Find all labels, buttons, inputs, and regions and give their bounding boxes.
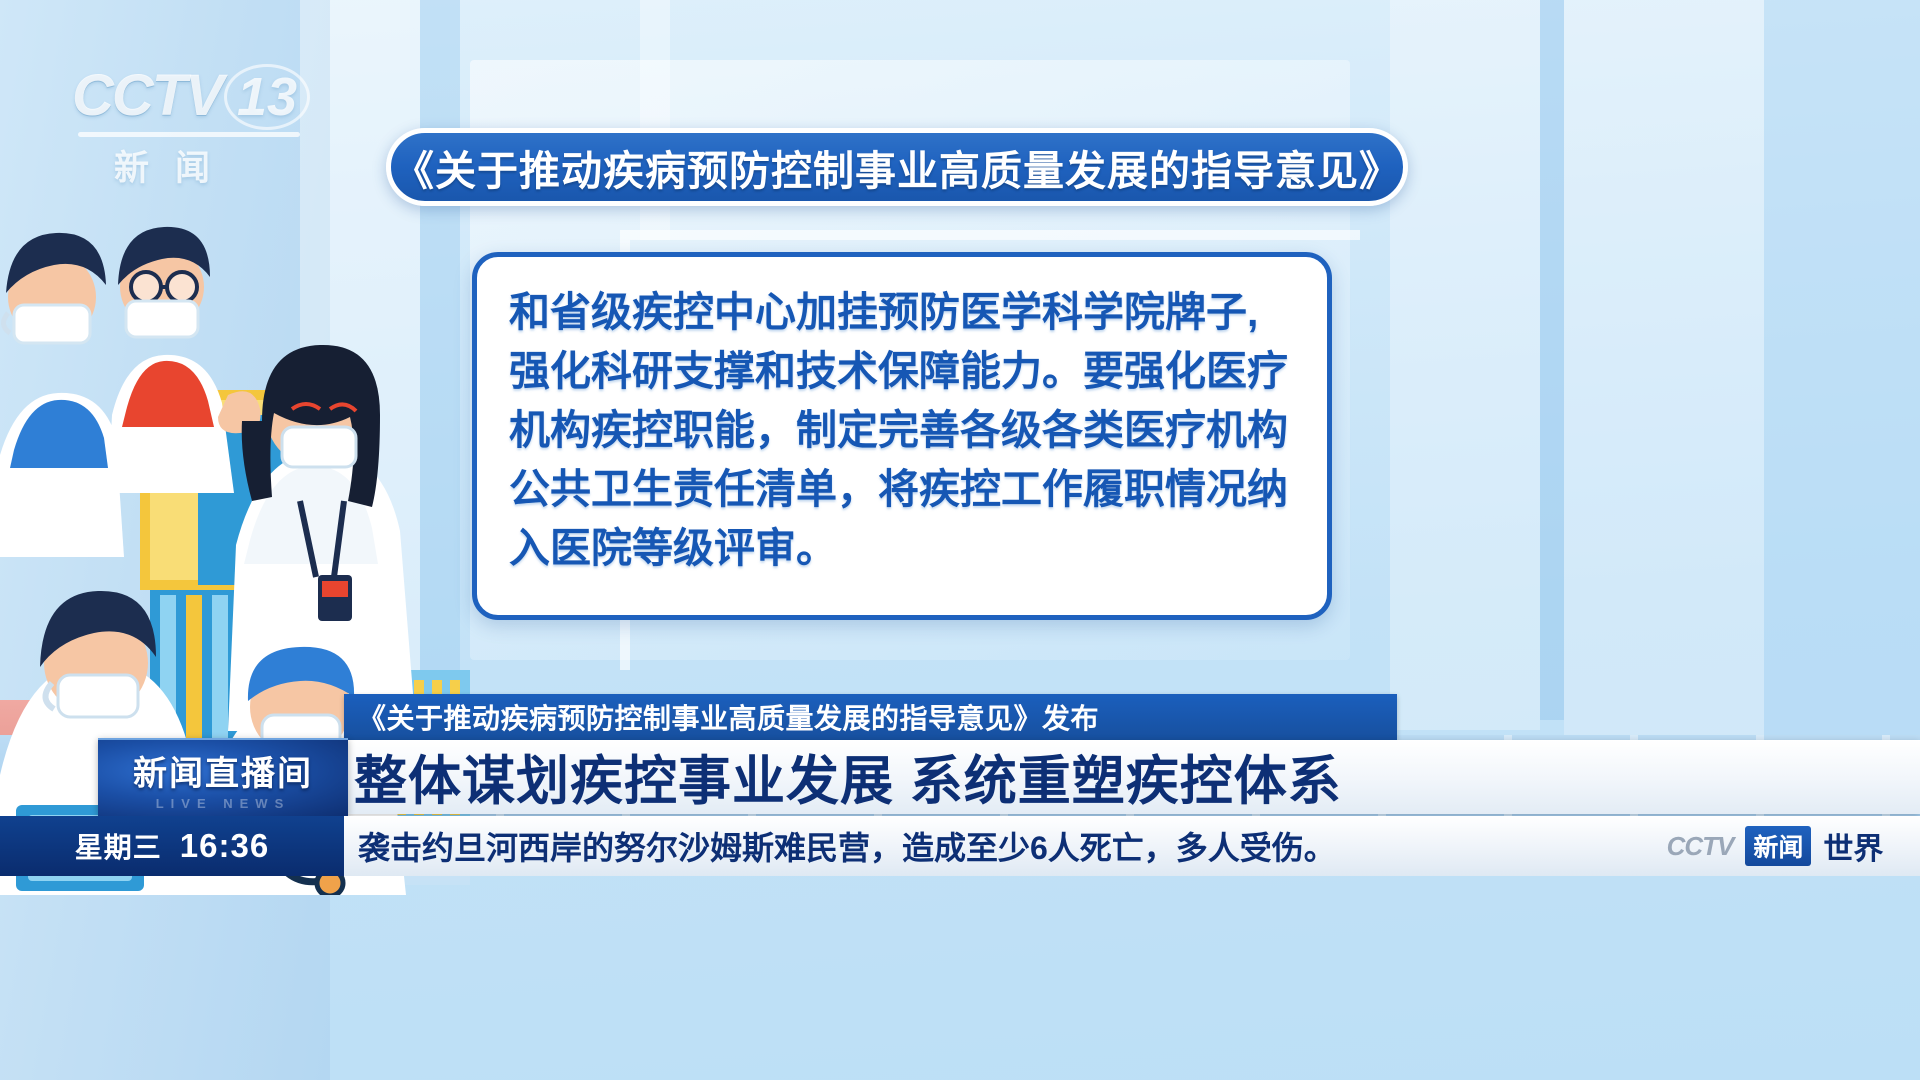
ticker-scroll-area: 袭击约旦河西岸的努尔沙姆斯难民营，造成至少6人死亡，多人受伤。 bbox=[344, 816, 1630, 876]
graphic-body-card: 和省级疾控中心加挂预防医学科学院牌子, 强化科研支撑和技术保障能力。要强化医疗 … bbox=[472, 252, 1332, 620]
ticker-weekday: 星期三 bbox=[75, 826, 162, 866]
lower-third-subtitle-bar: 《关于推动疾病预防控制事业高质量发展的指导意见》发布 bbox=[344, 694, 1397, 740]
background-panel bbox=[1564, 0, 1764, 740]
graphic-body-line: 公共卫生责任清单，将疾控工作履职情况纳 bbox=[509, 460, 1295, 519]
ticker-branding: CCTV 新闻 世界 bbox=[1630, 816, 1920, 876]
ticker-headline-text: 袭击约旦河西岸的努尔沙姆斯难民营，造成至少6人死亡，多人受伤。 bbox=[358, 823, 1336, 869]
program-latin-name: LIVE NEWS bbox=[156, 796, 291, 811]
broadcast-screen: CCTV 13 新闻 《关于推动疾病预防控制事业高质量发展的指导意见》 和省级疾… bbox=[0, 0, 1920, 1080]
graphic-body-line: 机构疾控职能，制定完善各级各类医疗机构 bbox=[509, 401, 1295, 460]
ticker-news-label: 新闻 bbox=[1745, 826, 1811, 866]
ticker-cctv-label: CCTV bbox=[1667, 831, 1734, 862]
lower-third-headline-bar: 整体谋划疾控事业发展 系统重塑疾控体系 bbox=[344, 740, 1920, 814]
lower-third-subtitle-text: 《关于推动疾病预防控制事业高质量发展的指导意见》发布 bbox=[358, 697, 1099, 737]
channel-logo-divider bbox=[78, 132, 300, 137]
news-ticker: 星期三 16:36 袭击约旦河西岸的努尔沙姆斯难民营，造成至少6人死亡，多人受伤… bbox=[0, 816, 1920, 876]
background-panel bbox=[1540, 0, 1564, 720]
graphic-title-text: 《关于推动疾病预防控制事业高质量发展的指导意见》 bbox=[393, 137, 1401, 197]
ticker-time: 16:36 bbox=[180, 827, 269, 865]
lower-third-headline-text: 整体谋划疾控事业发展 系统重塑疾控体系 bbox=[354, 739, 1342, 815]
channel-logo-cn-text: 新闻 bbox=[114, 140, 304, 191]
graphic-body-line: 和省级疾控中心加挂预防医学科学院牌子, bbox=[509, 283, 1295, 342]
graphic-title-banner: 《关于推动疾病预防控制事业高质量发展的指导意见》 bbox=[386, 128, 1408, 206]
ticker-clock: 星期三 16:36 bbox=[0, 816, 344, 876]
channel-logo: CCTV 13 新闻 bbox=[72, 62, 332, 180]
background-panel bbox=[1390, 0, 1540, 730]
graphic-body-line: 强化科研支撑和技术保障能力。要强化医疗 bbox=[509, 342, 1295, 401]
program-badge: 新闻直播间 LIVE NEWS bbox=[98, 738, 348, 816]
ticker-section-label: 世界 bbox=[1823, 824, 1883, 868]
graphic-body-line: 入医院等级评审。 bbox=[509, 519, 1295, 578]
program-name: 新闻直播间 bbox=[133, 746, 313, 795]
background-panel bbox=[1764, 0, 1920, 745]
channel-logo-number: 13 bbox=[224, 64, 310, 130]
